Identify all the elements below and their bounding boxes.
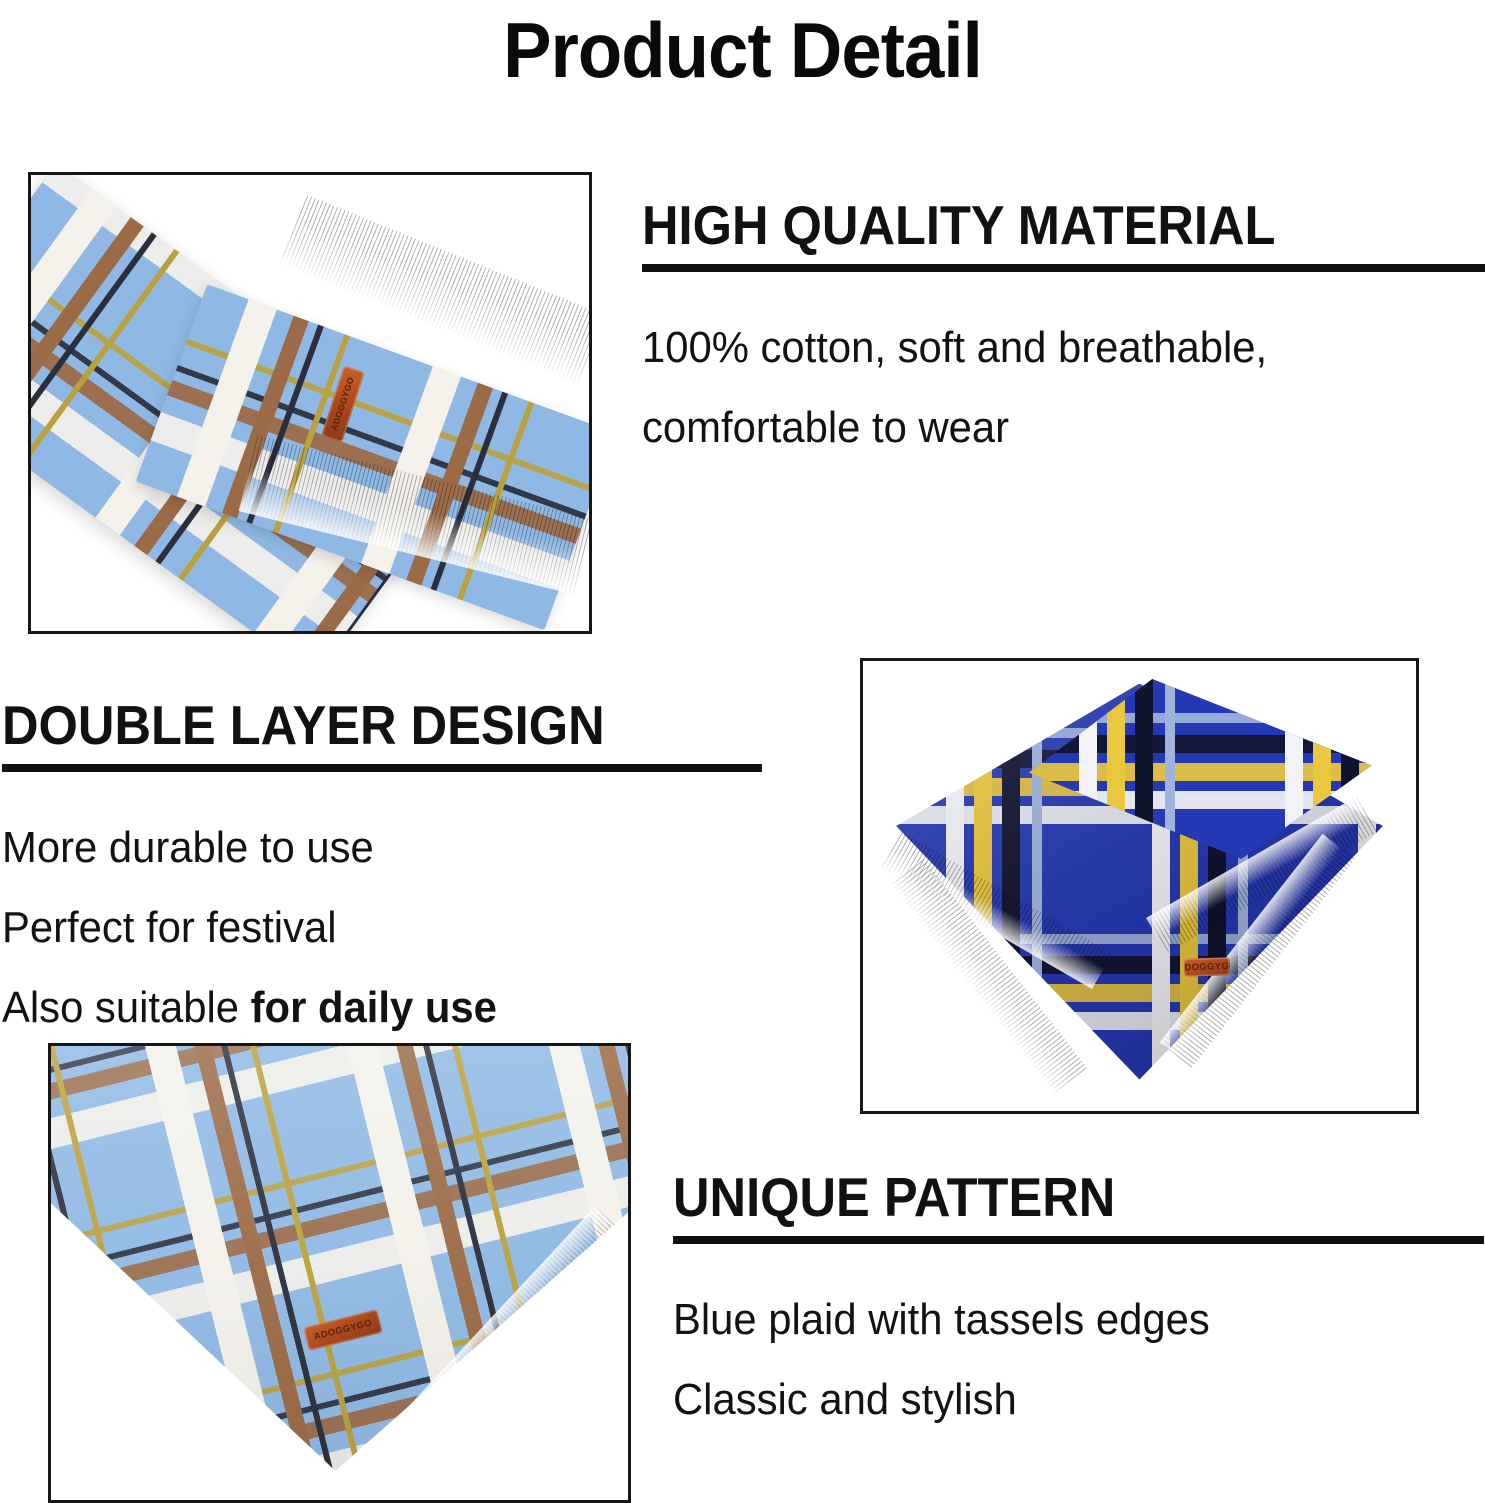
feature-body-line-emphasis: for daily use [251, 983, 497, 1032]
leather-tag-text: ADOGGYGO [1183, 961, 1230, 973]
feature-body-line: comfortable to wear [642, 388, 1443, 468]
feature-body-line: More durable to use [2, 808, 726, 888]
feature-body-line-normal: Also suitable [2, 983, 251, 1032]
photo-inner: ADOGGYGO [31, 175, 589, 631]
feature-body-line: Perfect for festival [2, 888, 726, 968]
photo-inner: ADOGGYGO [51, 1046, 628, 1500]
page-title: Product Detail [52, 2, 1433, 98]
feature-heading-pattern: UNIQUE PATTERN [673, 1168, 1420, 1226]
heading-divider [2, 764, 762, 772]
feature-heading-double-layer: DOUBLE LAYER DESIGN [2, 696, 703, 754]
feature-body-double-layer: More durable to use Perfect for festival… [2, 808, 726, 1048]
product-photo-light-plaid: ADOGGYGO [48, 1043, 631, 1503]
feature-block-double-layer: DOUBLE LAYER DESIGN More durable to use … [2, 696, 764, 1048]
feature-heading-material: HIGH QUALITY MATERIAL [642, 196, 1418, 254]
product-photo-fringe-closeup: ADOGGYGO [28, 172, 592, 634]
feature-body-line: Blue plaid with tassels edges [673, 1280, 1444, 1360]
feature-block-pattern: UNIQUE PATTERN Blue plaid with tassels e… [673, 1168, 1485, 1440]
product-photo-blue-bandana: ADOGGYGO [860, 658, 1419, 1114]
photo-inner: ADOGGYGO [863, 661, 1416, 1111]
heading-divider [673, 1236, 1484, 1244]
heading-divider [642, 264, 1485, 272]
feature-body-line-mixed: Also suitable for daily use [2, 968, 726, 1048]
feature-body-line: Classic and stylish [673, 1360, 1444, 1440]
feature-body-pattern: Blue plaid with tassels edges Classic an… [673, 1280, 1444, 1440]
leather-brand-tag: ADOGGYGO [1183, 957, 1230, 977]
feature-block-material: HIGH QUALITY MATERIAL 100% cotton, soft … [642, 196, 1485, 468]
feature-body-line: 100% cotton, soft and breathable, [642, 308, 1443, 388]
feature-body-material: 100% cotton, soft and breathable, comfor… [642, 308, 1443, 468]
